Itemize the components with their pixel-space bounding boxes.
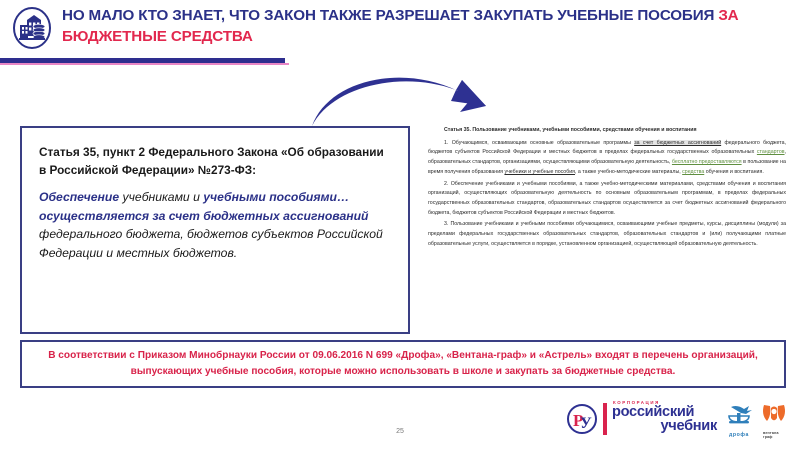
- ventana-graf-logo: вентана граф: [762, 403, 796, 440]
- curved-arrow-right-icon: [310, 68, 500, 130]
- law-quote-t2: федерального бюджета, бюджетов субъектов…: [39, 227, 383, 260]
- law-p1-a: 1. Обучающимся, осваивающим основные обр…: [444, 140, 634, 146]
- order-note-line1: В соответствии с Приказом Минобрнауки Ро…: [48, 350, 758, 361]
- ru-logo-line2: учебник: [612, 419, 717, 434]
- slide-header: НО МАЛО КТО ЗНАЕТ, ЧТО ЗАКОН ТАКЖЕ РАЗРЕ…: [0, 0, 800, 58]
- order-note-line2: выпускающих учебные пособия, которые мож…: [131, 366, 676, 377]
- law-p1-f: обучения и воспитания.: [704, 169, 764, 175]
- ventana-graf-butterfly-icon: [762, 403, 786, 425]
- law-p1-e: , а также учебно-методические материалы,: [575, 169, 682, 175]
- law-quote-box: Статья 35, пункт 2 Федерального Закона «…: [20, 126, 410, 334]
- law-paragraph-3: 3. Пользование учебниками и учебными пос…: [428, 220, 786, 249]
- order-note-box: В соответствии с Приказом Минобрнауки Ро…: [20, 340, 786, 388]
- page-number: 25: [385, 428, 415, 435]
- drofa-bird-icon: [723, 404, 755, 426]
- page-title-main: НО МАЛО КТО ЗНАЕТ, ЧТО ЗАКОН ТАКЖЕ РАЗРЕ…: [62, 7, 718, 24]
- drofa-logo: дрофа: [723, 404, 755, 438]
- law-quote-heading-line2: в Российской Федерации» №273-ФЗ:: [39, 163, 256, 177]
- footer-logos: Р У корпорация российский учебник дрофа: [566, 398, 792, 444]
- law-p1-link-5[interactable]: средства: [682, 169, 704, 175]
- ru-logo-wordmark: корпорация российский учебник: [612, 400, 724, 434]
- law-quote-body: Обеспечение учебниками и учебными пособи…: [39, 188, 391, 262]
- law-quote-em1: Обеспечение: [39, 190, 119, 204]
- law-p1-link-4[interactable]: учебники и учебные пособия: [504, 169, 575, 175]
- law-p1-link-3[interactable]: бесплатно предоставляются: [672, 159, 742, 165]
- law-p1-link-1[interactable]: за счет бюджетных ассигнований: [634, 140, 721, 146]
- svg-text:У: У: [580, 415, 592, 432]
- law-article-title: Статья 35. Пользование учебниками, учебн…: [428, 126, 786, 136]
- law-paragraph-2: 2. Обеспечение учебниками и учебными пос…: [428, 180, 786, 219]
- law-quote-heading: Статья 35, пункт 2 Федерального Закона «…: [39, 144, 391, 179]
- order-note-text: В соответствии с Приказом Минобрнауки Ро…: [34, 348, 772, 379]
- ru-logo-divider: [603, 403, 607, 435]
- bank-building-coins-icon: [11, 7, 53, 49]
- page-title: НО МАЛО КТО ЗНАЕТ, ЧТО ЗАКОН ТАКЖЕ РАЗРЕ…: [62, 6, 784, 47]
- law-quote-em3: осуществляется за счет бюджетных ассигно…: [39, 209, 369, 223]
- ventana-graf-name-line1: вентана: [763, 431, 779, 435]
- drofa-logo-name: дрофа: [723, 432, 755, 438]
- ru-monogram-icon: Р У: [566, 403, 598, 435]
- law-p1-link-2[interactable]: стандартов: [757, 149, 785, 155]
- divider-pink: [0, 63, 289, 65]
- law-paragraph-1: 1. Обучающимся, осваивающим основные обр…: [428, 139, 786, 178]
- law-source-text: Статья 35. Пользование учебниками, учебн…: [428, 126, 786, 251]
- ru-logo-line1: российский: [612, 405, 724, 419]
- law-quote-t1: учебниками и: [119, 190, 203, 204]
- law-quote-heading-line1: Статья 35, пункт 2 Федерального Закона «…: [39, 145, 384, 159]
- ventana-graf-name-line2: граф: [763, 435, 773, 439]
- law-quote-em2: учебными пособиями…: [203, 190, 349, 204]
- ventana-graf-logo-name: вентана граф: [763, 431, 796, 440]
